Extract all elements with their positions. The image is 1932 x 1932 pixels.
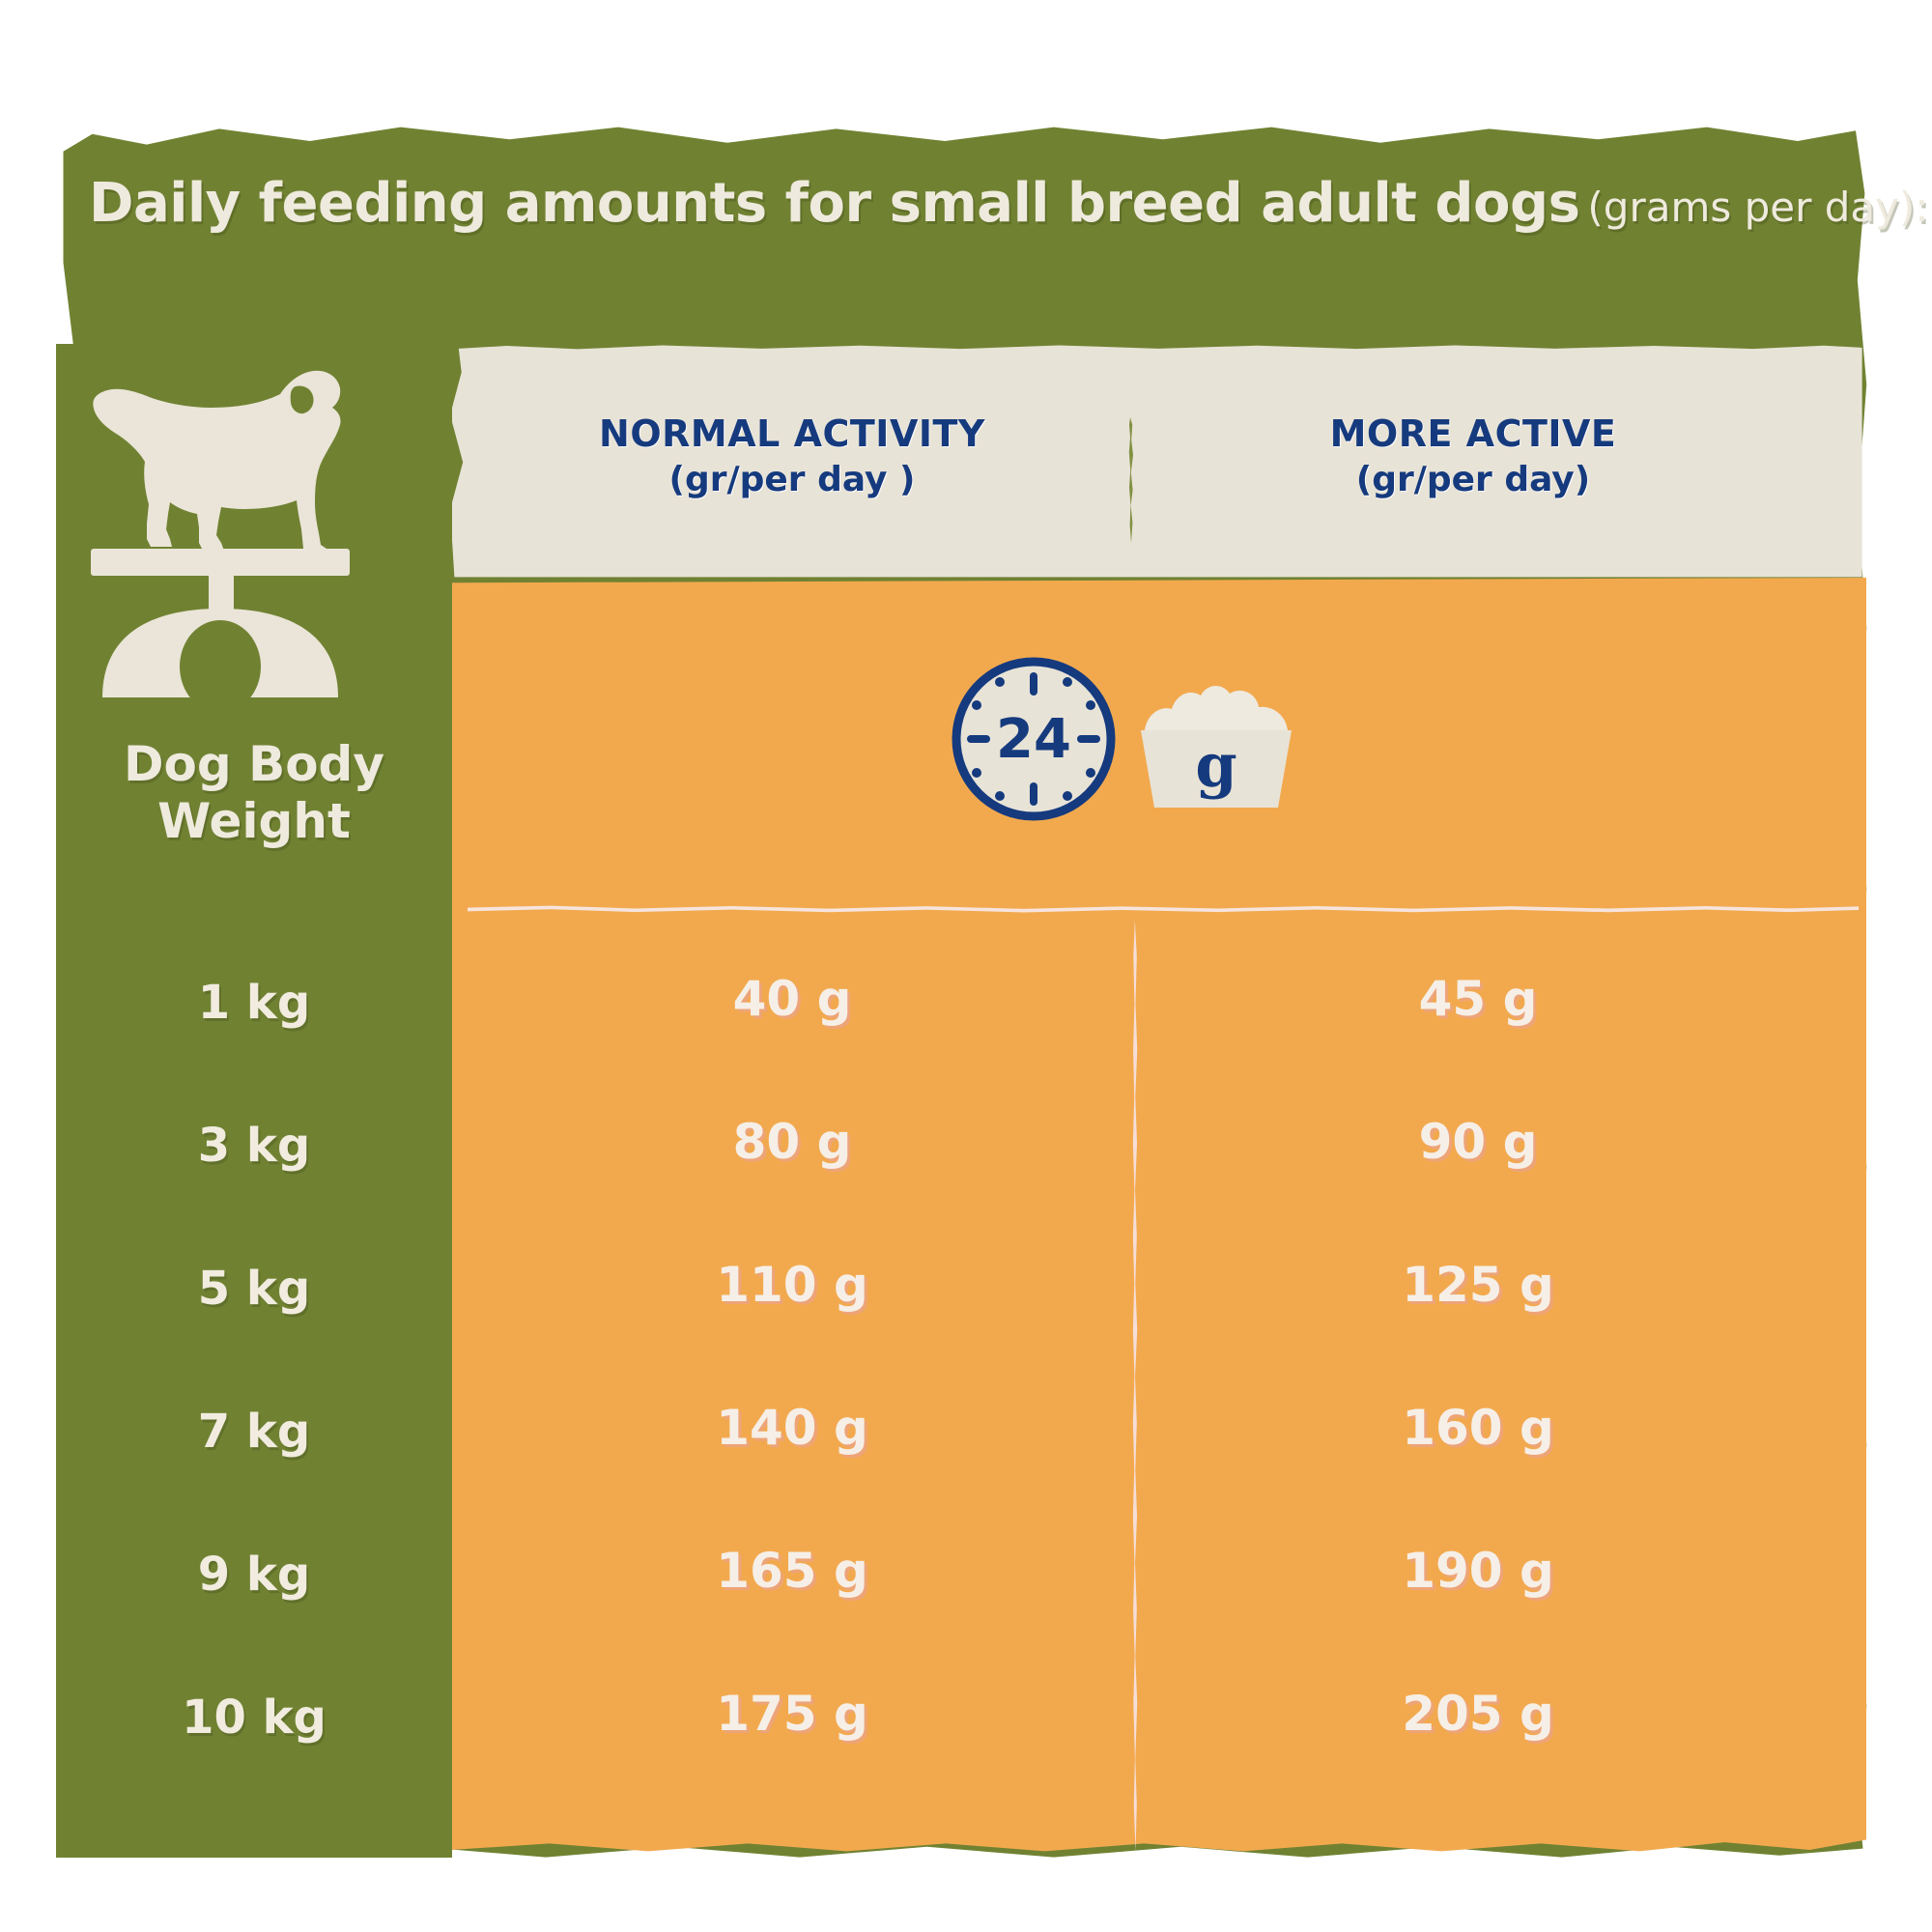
row-normal-2: 80 g bbox=[454, 1114, 1130, 1170]
feeding-chart-root: Daily feeding amounts for small breed ad… bbox=[0, 0, 1932, 1932]
column-header-normal-activity-units: (gr/per day ) bbox=[464, 461, 1121, 499]
column-header-normal-activity: NORMAL ACTIVITY (gr/per day ) bbox=[464, 413, 1121, 499]
row-active-4: 160 g bbox=[1140, 1400, 1816, 1456]
feeding-frequency-icons: 24 g bbox=[952, 657, 1309, 831]
dog-on-scale-icon bbox=[91, 359, 350, 697]
row-active-6: 205 g bbox=[1140, 1686, 1816, 1742]
page-title-sub: (grams per day): bbox=[1587, 184, 1928, 231]
row-normal-4: 140 g bbox=[454, 1400, 1130, 1456]
dog-food-bowl-icon: g bbox=[1127, 667, 1311, 811]
column-header-more-active-units: (gr/per day) bbox=[1145, 461, 1802, 499]
row-normal-3: 110 g bbox=[454, 1257, 1130, 1313]
row-weight-2: 3 kg bbox=[56, 1119, 452, 1173]
weight-column-label-line2: Weight bbox=[157, 793, 351, 849]
column-header-more-active: MORE ACTIVE (gr/per day) bbox=[1145, 413, 1802, 499]
row-weight-1: 1 kg bbox=[56, 976, 452, 1030]
row-weight-3: 5 kg bbox=[56, 1262, 452, 1316]
clock-24-hour-icon: 24 bbox=[952, 657, 1116, 821]
row-normal-5: 165 g bbox=[454, 1543, 1130, 1599]
row-active-1: 45 g bbox=[1140, 971, 1816, 1027]
column-header-normal-activity-title: NORMAL ACTIVITY bbox=[464, 413, 1121, 455]
clock-24-label: 24 bbox=[996, 708, 1071, 771]
row-weight-4: 7 kg bbox=[56, 1405, 452, 1459]
row-active-2: 90 g bbox=[1140, 1114, 1816, 1170]
weight-column-label: Dog Body Weight bbox=[56, 736, 452, 850]
row-weight-5: 9 kg bbox=[56, 1548, 452, 1602]
page-title: Daily feeding amounts for small breed ad… bbox=[89, 172, 1828, 235]
bowl-unit-label: g bbox=[1195, 730, 1236, 801]
row-weight-6: 10 kg bbox=[56, 1690, 452, 1745]
row-normal-6: 175 g bbox=[454, 1686, 1130, 1742]
row-active-3: 125 g bbox=[1140, 1257, 1816, 1313]
row-normal-1: 40 g bbox=[454, 971, 1130, 1027]
page-title-main: Daily feeding amounts for small breed ad… bbox=[89, 172, 1579, 235]
row-active-5: 190 g bbox=[1140, 1543, 1816, 1599]
weight-column-label-line1: Dog Body bbox=[124, 736, 384, 792]
column-header-more-active-title: MORE ACTIVE bbox=[1145, 413, 1802, 455]
